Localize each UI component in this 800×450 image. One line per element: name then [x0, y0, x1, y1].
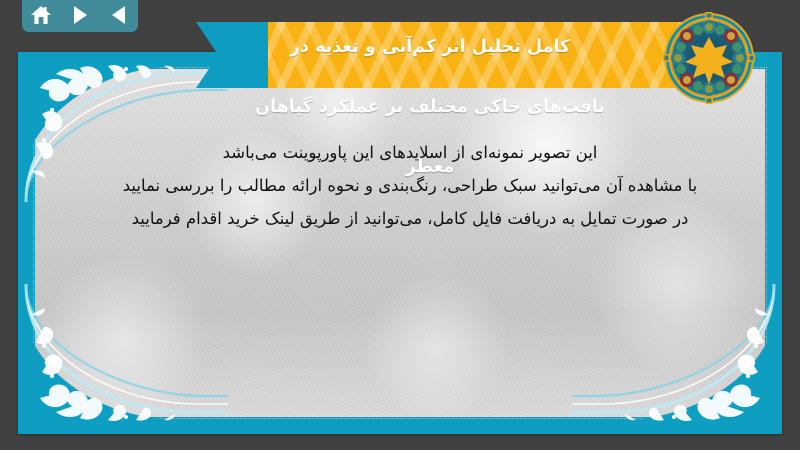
slide-navigation-bar[interactable]	[22, 0, 138, 32]
next-slide-button[interactable]	[67, 3, 93, 27]
triangle-right-icon	[74, 6, 87, 24]
body-line-3: در صورت تمایل به دریافت فایل کامل، می‌تو…	[60, 202, 760, 235]
triangle-left-icon	[112, 6, 125, 24]
home-button[interactable]	[28, 3, 54, 27]
previous-slide-button[interactable]	[106, 3, 132, 27]
title-line-3: معطر	[406, 157, 455, 177]
persian-medallion-ornament	[663, 12, 755, 104]
home-icon	[30, 5, 52, 25]
title-line-1: کامل تحلیل اثر کم‌آبی و تغذیه در	[290, 37, 570, 57]
slide-title: کامل تحلیل اثر کم‌آبی و تغذیه در بافت‌ها…	[150, 2, 710, 182]
presentation-slide: این تصویر نمونه‌ای از اسلایدهای این پاور…	[0, 0, 800, 450]
title-line-2: بافت‌های خاکی مختلف بر عملکرد گیاهان	[255, 97, 605, 117]
